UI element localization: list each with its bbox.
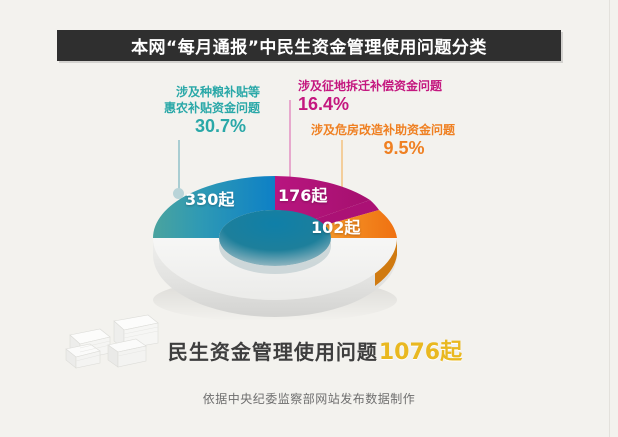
footer-source-note: 依据中央纪委监察部网站发布数据制作: [203, 392, 416, 406]
callout-teal-name-line1: 涉及种粮补贴等: [125, 84, 260, 100]
infographic-canvas: 本网“每月通报”中民生资金管理使用问题分类 涉及种粮补贴等 惠农补贴资金问题 3…: [0, 0, 618, 437]
callout-teal-percent: 30.7%: [125, 116, 260, 137]
summary-label: 民生资金管理使用问题: [168, 336, 378, 365]
page-title: 本网“每月通报”中民生资金管理使用问题分类: [131, 33, 487, 58]
right-edge-divider: [609, 0, 610, 437]
callout-label-housing-renovation: 涉及危房改造补助资金问题 9.5%: [311, 122, 497, 159]
donut-chart: [130, 160, 420, 320]
callout-label-land-compensation: 涉及征地拆迁补偿资金问题 16.4%: [298, 78, 442, 115]
summary-bar: 民生资金管理使用问题 1076起: [150, 330, 480, 370]
callout-label-grain-subsidy: 涉及种粮补贴等 惠农补贴资金问题 30.7%: [125, 84, 260, 137]
footer: 依据中央纪委监察部网站发布数据制作: [0, 390, 618, 408]
callout-orange-name: 涉及危房改造补助资金问题: [311, 122, 497, 138]
callout-magenta-percent: 16.4%: [298, 94, 442, 115]
paper-stack-svg: [58, 303, 162, 375]
callout-magenta-name: 涉及征地拆迁补偿资金问题: [298, 78, 442, 94]
donut-value-orange: 102起: [311, 214, 360, 238]
donut-chart-svg: [130, 160, 420, 320]
paper-stack-illustration: [58, 303, 162, 375]
donut-value-magenta: 176起: [278, 182, 327, 206]
callout-orange-percent: 9.5%: [311, 138, 497, 159]
donut-value-teal: 330起: [185, 186, 234, 210]
page-title-bar: 本网“每月通报”中民生资金管理使用问题分类: [57, 30, 561, 61]
callout-teal-name-line2: 惠农补贴资金问题: [125, 100, 260, 116]
summary-total-count: 1076起: [379, 334, 462, 366]
